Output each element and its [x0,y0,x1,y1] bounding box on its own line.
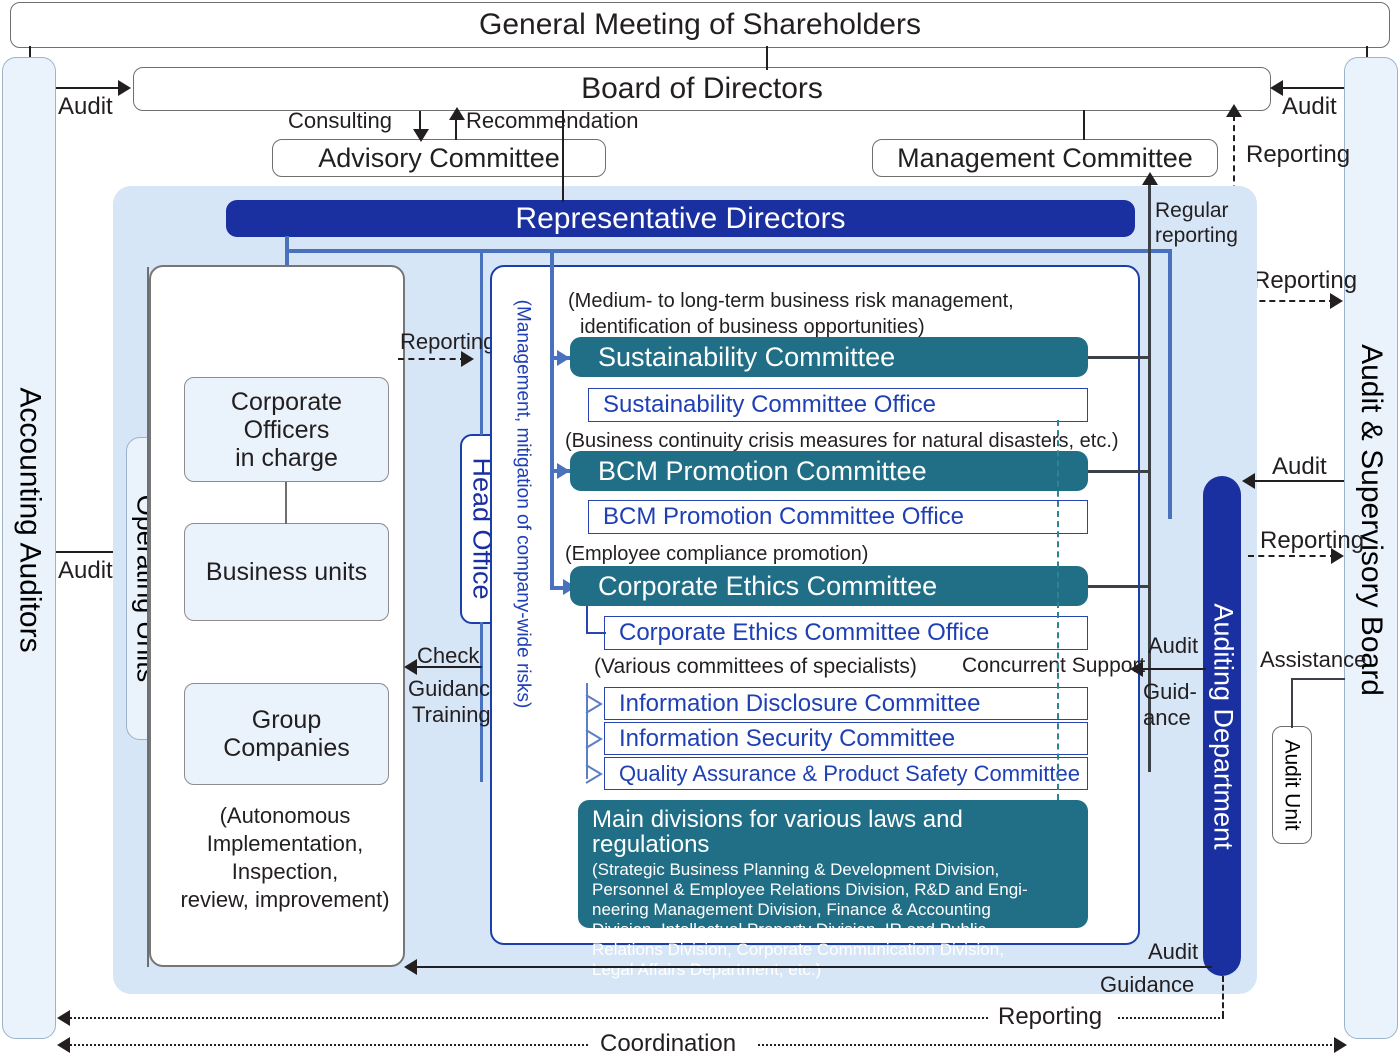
information-disclosure-committee-label: Information Disclosure Committee [619,690,980,718]
main-divisions-body-line-5: Relations Division, Corporate Communicat… [592,940,1076,960]
sustainability-committee-label: Sustainability Committee [598,342,895,373]
committee-2-note: (Business continuity crisis measures for… [565,430,1119,452]
committee-arrow-2 [557,463,570,479]
corporate-officers-line-2: Officers [244,416,330,444]
audit-mid-label: Audit [1148,634,1198,658]
group-companies-line-1: Group [252,706,321,734]
main-divisions-body-line-3: neering Management Division, Finance & A… [592,900,1076,920]
sustainability-committee-bar: Sustainability Committee [570,337,1088,377]
recommendation-label: Recommendation [466,109,638,133]
audit-mid-arrow [1130,661,1143,677]
board-of-directors-box: Board of Directors [133,67,1271,111]
auditing-dept-bottom-dashed [1222,976,1224,1017]
reporting-right-top-label: Reporting [1246,142,1350,168]
corporate-ethics-committee-office-label: Corporate Ethics Committee Office [619,619,989,647]
reporting-right-top-arrow [1226,104,1242,117]
committee-3-note: (Employee compliance promotion) [565,543,868,565]
information-security-committee-label: Information Security Committee [619,725,955,753]
autonomous-note-line-1: (Autonomous [160,802,410,830]
autonomous-note-line-3: Inspection, [160,858,410,886]
assistance-label: Assistance [1260,648,1366,672]
autonomous-note-line-4: review, improvement) [160,886,410,914]
regular-reporting-line-1: Regular [1155,198,1238,223]
specialists-note: (Various committees of specialists) [594,655,917,678]
main-divisions-heading: Main divisions for various laws and regu… [592,807,1076,857]
corporate-officers-line-1: Corporate [231,388,342,416]
main-divisions-body-line-1: (Strategic Business Planning & Developme… [592,860,1076,880]
reporting-bottom-label: Reporting [998,1004,1102,1030]
recommendation-arrow-head [449,107,465,120]
committee-1-note: (Medium- to long-term business risk mana… [568,288,1088,340]
general-meeting-of-shareholders-box: General Meeting of Shareholders [10,2,1390,48]
committee-arrow-1 [557,350,570,366]
coordination-left-arrow [57,1037,70,1053]
coordination-right-arrow [1334,1037,1347,1053]
guidance-hyphen-line-1: Guid- [1143,679,1197,705]
corporate-ethics-committee-bar: Corporate Ethics Committee [570,566,1088,606]
reporting-bottom-arrow [57,1010,70,1026]
training-label: Training [412,703,491,727]
audit-unit-label-wrap: Audit Unit [1237,770,1347,800]
regular-reporting-label: Regular reporting [1155,198,1238,248]
concurrent-support-label: Concurrent Support [962,654,1145,677]
management-committee-label: Management Committee [897,143,1193,173]
corporate-officers-box: Corporate Officers in charge [184,377,389,482]
bcm-promotion-committee-bar: BCM Promotion Committee [570,451,1088,491]
audit-unit-connector-h [1291,678,1345,680]
specialist-chevron-1-icon [585,693,607,715]
autonomous-note-line-2: Implementation, [160,830,410,858]
audit-left-top-arrow [118,80,131,96]
audit-bottom-line [412,966,1212,968]
reporting-center-label: Reporting [400,330,495,354]
management-committee-box: Management Committee [872,139,1218,177]
connector-shareholders-board [766,46,768,70]
connector-officers-business [285,482,287,524]
check-guidance-arrow [404,659,417,675]
advisory-committee-label: Advisory Committee [318,143,560,173]
governance-diagram: General Meeting of Shareholders Board of… [0,0,1400,1060]
consulting-label: Consulting [288,109,392,133]
head-office-note: (Management, mitigation of company-wide … [511,300,533,709]
auditing-department-label-wrap: Auditing Department [1075,708,1371,744]
bcm-promotion-committee-office-label: BCM Promotion Committee Office [603,503,964,531]
corporate-officers-line-3: in charge [235,444,338,472]
information-security-committee-box: Information Security Committee [604,722,1088,755]
group-companies-line-2: Companies [223,734,349,762]
auditing-department-label: Auditing Department [1207,603,1238,849]
general-meeting-label: General Meeting of Shareholders [479,8,921,42]
audit-supervisory-board-label: Audit & Supervisory Board [1354,344,1388,696]
audit-left-top-line [56,87,121,89]
main-divisions-body-line-6: Legal Affairs Department, etc.) [592,960,1076,980]
audit-dept-audit-arrow [1242,473,1255,489]
ethics-to-trunk [1088,585,1150,588]
committee-3-note-line-1: (Employee compliance promotion) [565,543,868,565]
bcm-promotion-committee-label: BCM Promotion Committee [598,456,927,487]
audit-dept-reporting-dashed [1248,555,1336,557]
audit-mid-line [1138,668,1206,670]
quality-assurance-committee-label: Quality Assurance & Product Safety Commi… [619,761,1080,787]
reporting-right-upper-arrow [1330,293,1343,309]
specialists-note-label: (Various committees of specialists) [594,655,917,678]
audit-left-top-label: Audit [58,94,113,120]
reporting-center-dashed [398,358,466,360]
autonomous-note: (Autonomous Implementation, Inspection, … [160,802,410,915]
coordination-label: Coordination [600,1031,736,1057]
audit-unit-label: Audit Unit [1280,739,1304,830]
main-divisions-body-line-4: Division, Intellectual Property Division… [592,920,1076,940]
accounting-auditors-label: Accounting Auditors [13,387,47,652]
audit-dept-audit-label: Audit [1272,454,1327,480]
audit-right-top-line [1282,87,1344,89]
ethics-office-bracket-v [586,606,588,634]
consulting-arrow-head [413,129,429,142]
specialist-chevron-2-icon [585,728,607,750]
bcm-to-trunk [1088,470,1150,473]
sustainability-committee-office-label: Sustainability Committee Office [603,391,936,419]
connector-board-representative [562,110,564,202]
reporting-right-upper-label: Reporting [1253,268,1357,294]
advisory-committee-box: Advisory Committee [272,139,606,177]
group-companies-box: Group Companies [184,683,389,785]
quality-assurance-committee-box: Quality Assurance & Product Safety Commi… [604,757,1088,790]
audit-unit-connector-v [1291,678,1293,728]
main-divisions-box: Main divisions for various laws and regu… [578,800,1088,928]
check-label: Check [417,644,479,668]
audit-right-top-label: Audit [1282,94,1337,120]
recommendation-arrow-line [455,118,457,140]
guidance-label: Guidance [408,677,502,701]
corporate-ethics-committee-office-box: Corporate Ethics Committee Office [604,616,1088,650]
representative-directors-bar: Representative Directors [226,200,1135,237]
sustainability-to-trunk [1088,356,1150,359]
committees-to-mgmt-arrow [1142,172,1158,185]
board-of-directors-label: Board of Directors [581,72,823,106]
guidance-hyphen-line-2: ance [1143,705,1197,731]
information-disclosure-committee-box: Information Disclosure Committee [604,687,1088,720]
business-units-box: Business units [184,523,389,621]
representative-directors-label: Representative Directors [515,202,845,236]
concurrent-support-dashed [1057,420,1059,800]
audit-bottom-arrow [404,959,417,975]
bcm-promotion-committee-office-box: BCM Promotion Committee Office [588,500,1088,534]
audit-bottom-label: Audit [1148,940,1198,964]
rep-trunk-right-vertical [1168,249,1172,519]
regular-reporting-line-2: reporting [1155,223,1238,248]
audit-dept-reporting-label: Reporting [1260,528,1364,554]
rep-trunk-horizontal [285,249,1172,253]
specialist-chevron-3-icon [585,763,607,785]
ethics-office-bracket-h [586,632,606,634]
main-divisions-body: (Strategic Business Planning & Developme… [592,860,1076,979]
guidance-hyphen-label: Guid- ance [1143,679,1197,730]
committee-bracket-vertical [550,249,554,589]
committee-2-note-line-1: (Business continuity crisis measures for… [565,430,1119,452]
business-units-label: Business units [206,558,367,586]
consulting-arrow-line [419,111,421,131]
sustainability-committee-office-box: Sustainability Committee Office [588,388,1088,422]
corporate-ethics-committee-label: Corporate Ethics Committee [598,571,937,602]
main-divisions-body-line-2: Personnel & Employee Relations Division,… [592,880,1076,900]
committee-1-note-line-1: (Medium- to long-term business risk mana… [568,288,1088,314]
connector-board-management-committee [1083,110,1085,140]
guidance-bottom-label: Guidance [1100,973,1194,997]
